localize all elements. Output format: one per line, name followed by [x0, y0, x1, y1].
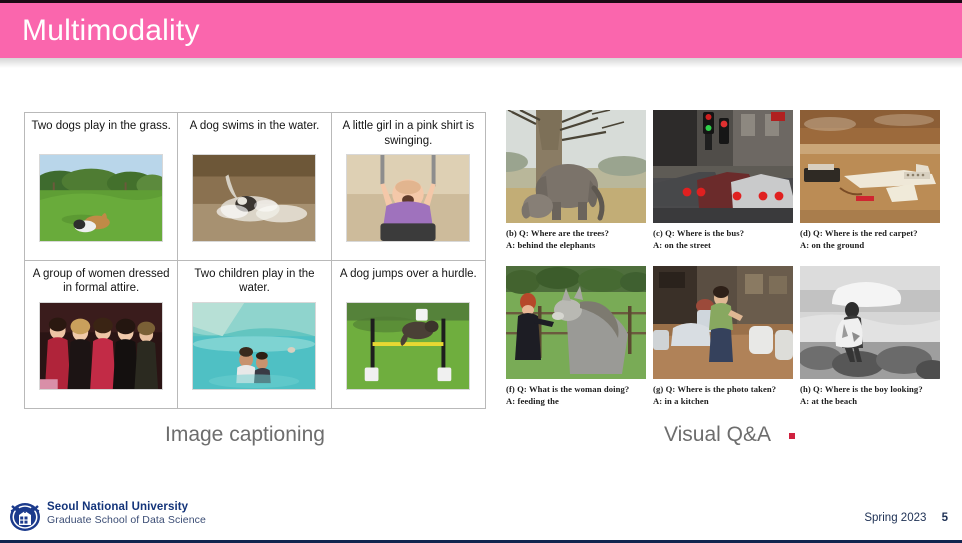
- caption-cell: Two children play in the water.: [178, 261, 331, 409]
- vqa-caption: (h) Q: Where is the boy looking? A: at t…: [800, 383, 940, 407]
- caption-text: A group of women dressed in formal attir…: [31, 267, 171, 297]
- slide-footer: Seoul National University Graduate Schoo…: [0, 493, 962, 543]
- vqa-cell-d: (d) Q: Where is the red carpet? A: on th…: [800, 110, 940, 258]
- vqa-photo-airplane-tarmac: [800, 110, 940, 223]
- vqa-caption: (c) Q: Where is the bus? A: on the stree…: [653, 227, 793, 251]
- vqa-answer: A: in a kitchen: [653, 395, 793, 407]
- vqa-question: (b) Q: Where are the trees?: [506, 227, 646, 239]
- caption-cell: Two dogs play in the grass.: [25, 113, 178, 261]
- caption-text: A dog jumps over a hurdle.: [340, 267, 477, 297]
- vqa-photo-indoor-room: [653, 266, 793, 379]
- vqa-photo-street-traffic: [653, 110, 793, 223]
- image-captioning-table: Two dogs play in the grass.: [24, 112, 486, 409]
- vqa-question: (f) Q: What is the woman doing?: [506, 383, 646, 395]
- vqa-photo-elephants-tree: [506, 110, 646, 223]
- vqa-answer: A: on the street: [653, 239, 793, 251]
- vqa-question: (h) Q: Where is the boy looking?: [800, 383, 940, 395]
- vqa-answer: A: at the beach: [800, 395, 940, 407]
- vqa-caption: (g) Q: Where is the photo taken? A: in a…: [653, 383, 793, 407]
- caption-photo-children-water: [192, 302, 316, 390]
- page-title: Multimodality: [22, 14, 200, 48]
- vqa-photo-woman-horse: [506, 266, 646, 379]
- vqa-answer: A: feeding the: [506, 395, 646, 407]
- vqa-cell-c: (c) Q: Where is the bus? A: on the stree…: [653, 110, 793, 258]
- vqa-caption: (b) Q: Where are the trees? A: behind th…: [506, 227, 646, 251]
- caption-text: Two dogs play in the grass.: [31, 119, 170, 149]
- vqa-cell-g: (g) Q: Where is the photo taken? A: in a…: [653, 266, 793, 414]
- university-name: Seoul National University: [47, 501, 206, 514]
- vqa-answer: A: on the ground: [800, 239, 940, 251]
- caption-cell: A little girl in a pink shirt is swingin…: [332, 113, 485, 261]
- slide-body: Two dogs play in the grass.: [0, 68, 962, 493]
- slide-title-bar: Multimodality: [0, 0, 962, 58]
- vqa-answer: A: behind the elephants: [506, 239, 646, 251]
- caption-photo-dog-hurdle: [346, 302, 470, 390]
- caption-text: Two children play in the water.: [184, 267, 324, 297]
- caption-text: A dog swims in the water.: [190, 119, 320, 149]
- caption-cell: A dog jumps over a hurdle.: [332, 261, 485, 409]
- vqa-question: (g) Q: Where is the photo taken?: [653, 383, 793, 395]
- caption-photo-two-dogs: [39, 154, 163, 242]
- footer-meta: Spring 2023 5: [864, 512, 948, 524]
- snu-wordmark: Seoul National University Graduate Schoo…: [47, 501, 206, 526]
- caption-text: A little girl in a pink shirt is swingin…: [338, 119, 479, 149]
- vqa-question: (d) Q: Where is the red carpet?: [800, 227, 940, 239]
- label-image-captioning: Image captioning: [165, 423, 325, 447]
- school-name: Graduate School of Data Science: [47, 514, 206, 526]
- vqa-caption: (f) Q: What is the woman doing? A: feedi…: [506, 383, 646, 407]
- term-label: Spring 2023: [864, 512, 926, 524]
- vqa-photo-boy-surfboard-beach: [800, 266, 940, 379]
- visual-qa-grid: (b) Q: Where are the trees? A: behind th…: [506, 110, 940, 413]
- caption-cell: A dog swims in the water.: [178, 113, 331, 261]
- title-bar-shadow: [0, 58, 962, 68]
- caption-photo-dog-swimming: [192, 154, 316, 242]
- caption-photo-girl-swinging: [346, 154, 470, 242]
- caption-photo-women-formal: [39, 302, 163, 390]
- label-visual-qa: Visual Q&A: [664, 423, 771, 447]
- section-labels: Image captioning Visual Q&A: [0, 423, 962, 463]
- vqa-cell-f: (f) Q: What is the woman doing? A: feedi…: [506, 266, 646, 414]
- vqa-cell-h: (h) Q: Where is the boy looking? A: at t…: [800, 266, 940, 414]
- vqa-caption: (d) Q: Where is the red carpet? A: on th…: [800, 227, 940, 251]
- vqa-question: (c) Q: Where is the bus?: [653, 227, 793, 239]
- snu-crest-logo-icon: [8, 502, 42, 532]
- page-number: 5: [942, 512, 948, 524]
- caption-cell: A group of women dressed in formal attir…: [25, 261, 178, 409]
- bullet-marker-icon: [789, 433, 795, 439]
- vqa-cell-b: (b) Q: Where are the trees? A: behind th…: [506, 110, 646, 258]
